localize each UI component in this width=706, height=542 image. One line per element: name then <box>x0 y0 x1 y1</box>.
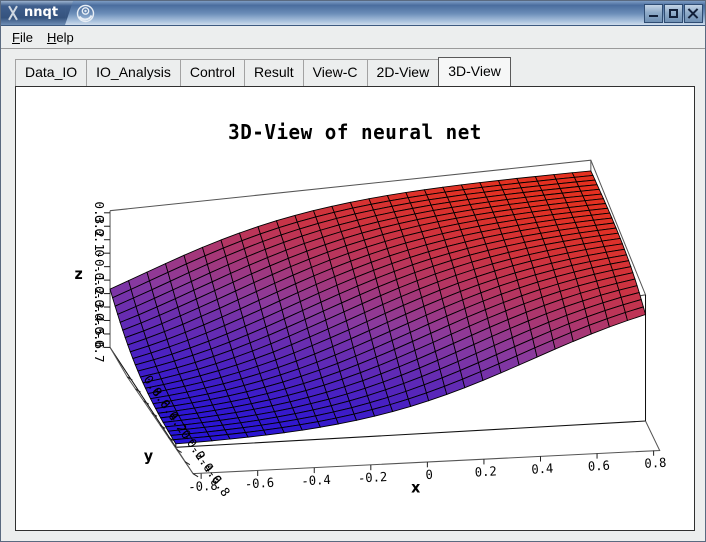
tab-data-io[interactable]: Data_IO <box>15 59 87 86</box>
axis-tick-label: 0.8 <box>644 456 667 471</box>
axis-tick-label: 0.1 <box>92 228 106 251</box>
menu-bar: File Help <box>1 26 705 49</box>
plot-panel: 3D-View of neural net <box>15 86 695 531</box>
tab-strip: Data_IO IO_Analysis Control Result View-… <box>15 57 705 86</box>
menu-item-help-label: elp <box>56 30 73 45</box>
tab-label: 2D-View <box>377 64 430 80</box>
x-axis: -0.8-0.6-0.4-0.200.20.40.60.8 x <box>188 450 667 496</box>
minimize-icon <box>649 15 658 17</box>
window-title: nnqt <box>24 5 58 21</box>
maximize-button[interactable] <box>664 4 683 23</box>
tab-2d-view[interactable]: 2D-View <box>367 59 440 86</box>
application-window: nnqt File Help Data_IO IO_Analysis Contr… <box>0 0 706 542</box>
y-axis-label: y <box>144 449 154 465</box>
z-axis-label: z <box>75 267 83 283</box>
chart-title: 3D-View of neural net <box>228 121 482 144</box>
menu-item-file[interactable]: File <box>10 29 35 46</box>
tab-label: Result <box>254 64 294 80</box>
tab-label: 3D-View <box>448 63 501 79</box>
tab-io-analysis[interactable]: IO_Analysis <box>86 59 181 86</box>
axis-tick-mark <box>193 474 198 477</box>
tab-label: IO_Analysis <box>96 64 171 80</box>
tab-label: Data_IO <box>25 64 77 80</box>
surface-plot: 3D-View of neural net <box>24 95 686 522</box>
title-bar-left: nnqt <box>1 1 65 25</box>
swirl-icon <box>76 4 95 23</box>
axis-tick-label: -0.4 <box>301 473 331 489</box>
window-controls <box>643 1 705 25</box>
tab-3d-view[interactable]: 3D-View <box>438 57 511 86</box>
tab-control[interactable]: Control <box>180 59 245 86</box>
tab-label: Control <box>190 64 235 80</box>
x-axis-label: x <box>411 480 421 496</box>
x-logo-icon <box>5 5 21 21</box>
tab-strip-container: Data_IO IO_Analysis Control Result View-… <box>1 49 705 86</box>
z-axis: 0.30.20.10-0.1-0.2-0.3-0.4-0.5-0.6-0.7 z <box>75 201 111 362</box>
title-bar: nnqt <box>1 1 705 26</box>
axis-tick-label: 0.6 <box>588 458 611 473</box>
tab-label: View-C <box>313 64 358 80</box>
menu-item-help[interactable]: Help <box>45 29 76 46</box>
tab-result[interactable]: Result <box>244 59 304 86</box>
axis-tick-label: 0.4 <box>531 461 554 476</box>
tab-view-c[interactable]: View-C <box>303 59 368 86</box>
minimize-button[interactable] <box>644 4 663 23</box>
axis-tick-label: -0.2 <box>358 470 388 486</box>
axis-tick-label: -0.7 <box>92 332 106 362</box>
axis-tick-label: -0.6 <box>245 476 275 492</box>
title-bar-filler <box>95 1 643 25</box>
close-icon <box>688 8 699 19</box>
surface-mesh <box>110 171 645 444</box>
axis-tick-label: 0.2 <box>474 464 497 479</box>
axis-tick-label: 0 <box>425 467 433 482</box>
close-button[interactable] <box>684 4 703 23</box>
axis-tick-label: -0.8 <box>188 478 218 494</box>
menu-item-file-label: ile <box>20 30 33 45</box>
maximize-icon <box>669 9 678 18</box>
plot-canvas: 3D-View of neural net <box>24 95 686 522</box>
